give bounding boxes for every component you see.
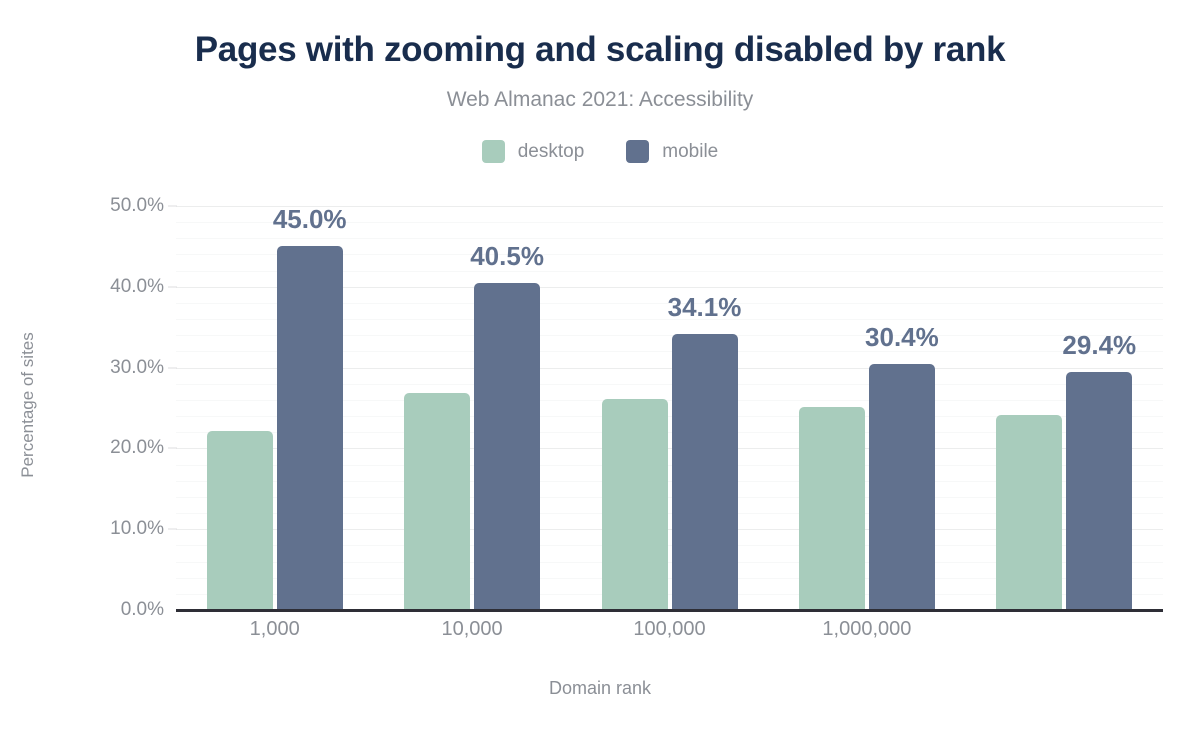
y-axis-tick-label: 50.0% [14,195,164,217]
bar-desktop[interactable] [207,431,273,610]
bar-desktop[interactable] [996,415,1062,610]
bar-desktop[interactable] [602,399,668,610]
y-axis-tick-label: 10.0% [14,518,164,540]
plot-area [176,206,1163,610]
x-axis-title: Domain rank [0,678,1200,699]
bar-desktop[interactable] [799,407,865,610]
y-axis-tick-mark [168,286,177,287]
x-axis-tick-label: 1,000,000 [822,618,911,641]
bar-desktop[interactable] [404,393,470,610]
bar-value-label: 40.5% [470,241,544,272]
bar-mobile[interactable] [1066,372,1132,610]
x-axis-tick-label: 1,000 [250,618,300,641]
bar-mobile[interactable] [672,334,738,610]
x-axis-baseline [176,609,1163,612]
y-axis-title: Percentage of sites [18,332,38,478]
bar-value-label: 45.0% [273,204,347,235]
plot-wrapper: 0.0%10.0%20.0%30.0%40.0%50.0% Percentage… [0,0,1200,742]
y-axis-tick-mark [168,367,177,368]
x-axis-tick-label: 10,000 [442,618,503,641]
y-axis-tick-mark [168,448,177,449]
y-axis-tick-mark [168,206,177,207]
chart-figure: Pages with zooming and scaling disabled … [0,0,1200,742]
bar-value-label: 34.1% [668,292,742,323]
y-axis-tick-label: 0.0% [14,599,164,621]
x-axis-tick-label: 100,000 [633,618,705,641]
gridline-minor [176,238,1163,239]
bar-mobile[interactable] [474,283,540,610]
bar-mobile[interactable] [277,246,343,610]
bar-mobile[interactable] [869,364,935,610]
y-axis-tick-mark [168,529,177,530]
y-axis-tick-label: 40.0% [14,276,164,298]
bar-value-label: 30.4% [865,322,939,353]
bar-value-label: 29.4% [1062,330,1136,361]
